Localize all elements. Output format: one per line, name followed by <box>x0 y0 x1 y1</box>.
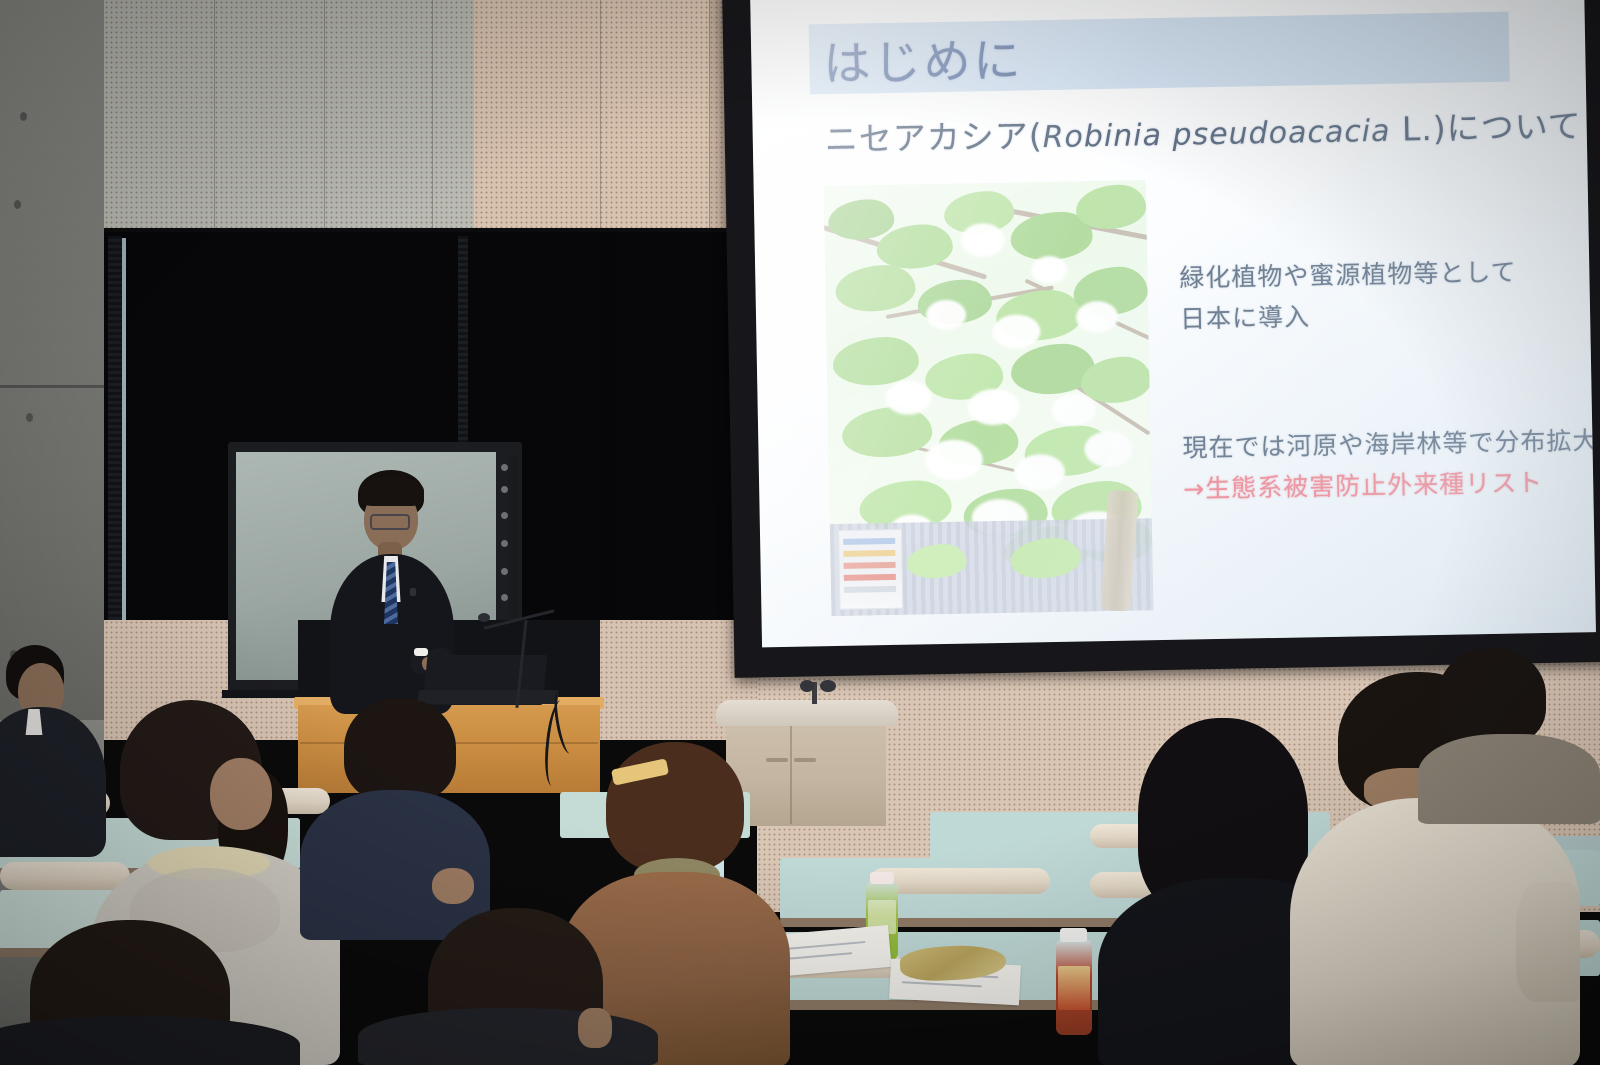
bottle-label-brown <box>1058 966 1090 1010</box>
arm <box>1516 882 1580 1002</box>
whiteboard-button-3[interactable] <box>501 512 508 519</box>
cabinet-handle-right[interactable] <box>794 758 816 762</box>
slide-body-block-2: 現在では河原や海岸林等で分布拡大 →生態系被害防止外来種リスト <box>1182 420 1596 510</box>
whiteboard-button-4[interactable] <box>501 540 508 547</box>
subtitle-authority: L. <box>1390 109 1433 149</box>
projection-screen: はじめに ニセアカシア(Robinia pseudoacacia L.)について <box>722 0 1600 678</box>
audience-member-back-right <box>1418 648 1600 818</box>
body-line-1: 緑化植物や蜜源植物等として <box>1179 251 1517 298</box>
acoustic-wall-panel-left <box>104 0 474 232</box>
sink-basin <box>716 700 898 726</box>
slide-surface: はじめに ニセアカシア(Robinia pseudoacacia L.)について <box>750 0 1596 647</box>
slide-body-block-1: 緑化植物や蜜源植物等として 日本に導入 <box>1179 251 1518 339</box>
shirt-cuff <box>414 648 428 656</box>
slide-tree-photo <box>824 180 1154 616</box>
whiteboard-button-6[interactable] <box>501 594 508 601</box>
cabinet-door-seam <box>790 726 792 824</box>
sink-handle-right[interactable] <box>820 680 836 692</box>
audience-member-front-row-dark <box>0 920 300 1065</box>
concrete-column <box>0 0 104 720</box>
whiteboard-button-2[interactable] <box>501 486 508 493</box>
glasses <box>370 514 410 530</box>
subtitle-suffix: )について <box>1432 106 1582 148</box>
audience-member-dark-foreground <box>398 888 648 1065</box>
lecture-hall-photo: はじめに ニセアカシア(Robinia pseudoacacia L.)について <box>0 0 1600 1065</box>
whiteboard-button-1[interactable] <box>501 464 508 471</box>
window-blind <box>108 236 122 680</box>
subtitle-prefix: ニセアカシア( <box>824 116 1043 159</box>
ear <box>578 1008 612 1048</box>
body-line-2: 日本に導入 <box>1180 292 1518 339</box>
microphone-head <box>478 613 490 622</box>
lapel-mic <box>410 588 416 596</box>
scientific-name: Robinia pseudoacacia <box>1042 114 1390 155</box>
whiteboard-button-5[interactable] <box>501 568 508 575</box>
slide-subtitle: ニセアカシア(Robinia pseudoacacia L.)について <box>824 99 1596 161</box>
window-light-edge <box>122 238 126 678</box>
sink-handle-left[interactable] <box>800 680 814 692</box>
slide-highlight-line: →生態系被害防止外来種リスト <box>1183 461 1596 510</box>
acoustic-wall-panel-center <box>474 0 709 232</box>
slide-title: はじめに <box>823 6 1484 100</box>
